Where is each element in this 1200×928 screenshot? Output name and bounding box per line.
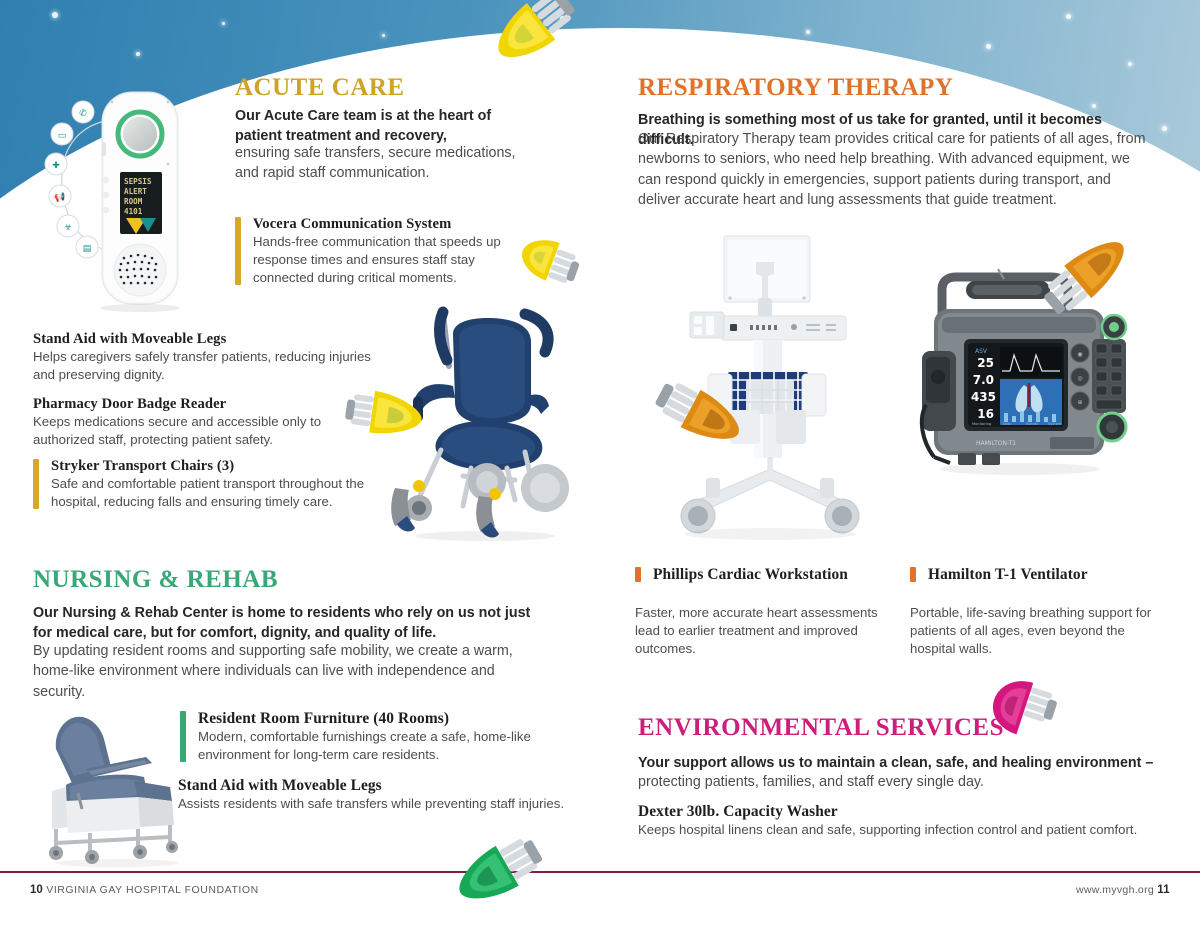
svg-text:ASV: ASV xyxy=(975,348,988,355)
item-title: Stand Aid with Moveable Legs xyxy=(33,331,388,348)
svg-text:✆: ✆ xyxy=(79,109,87,119)
svg-text:ROOM: ROOM xyxy=(124,197,143,206)
svg-text:✚: ✚ xyxy=(52,161,60,171)
svg-text:ALERT: ALERT xyxy=(124,187,147,196)
svg-text:HAMILTON-T1: HAMILTON-T1 xyxy=(976,440,1016,447)
item-description: Assists residents with safe transfers wh… xyxy=(178,795,598,813)
svg-text:◉: ◉ xyxy=(1077,351,1082,358)
footer-page-number-right: 11 xyxy=(1157,884,1170,896)
bulb-pink-right xyxy=(985,680,1075,765)
svg-text:☣: ☣ xyxy=(64,223,72,233)
svg-text:⊕: ⊕ xyxy=(1077,399,1082,406)
section-heading-respiratory-therapy: RESPIRATORY THERAPY xyxy=(638,74,953,102)
bulb-yellow-mid xyxy=(345,385,431,457)
svg-text:SEPSIS: SEPSIS xyxy=(124,177,152,186)
svg-text:📢: 📢 xyxy=(54,191,65,203)
acute-care-lead-text: Our Acute Care team is at the heart of p… xyxy=(235,106,535,147)
item-title: Vocera Communication System xyxy=(253,216,520,233)
footer-page-number-left: 10 xyxy=(30,884,43,896)
item-description: Keeps medications secure and accessible … xyxy=(33,413,338,449)
item-title: Dexter 30lb. Capacity Washer xyxy=(638,803,1163,821)
environmental-lead-text: Your support allows us to maintain a cle… xyxy=(638,753,1163,773)
svg-text:▭: ▭ xyxy=(58,131,67,141)
acute-care-body-text: ensuring safe transfers, secure medicati… xyxy=(235,143,540,184)
footer-website-url[interactable]: www.myvgh.org xyxy=(1076,884,1154,896)
item-vocera-communication-system: Vocera Communication System Hands-free c… xyxy=(235,216,520,287)
svg-text:Monitoring: Monitoring xyxy=(972,422,991,426)
section-heading-nursing-rehab: NURSING & REHAB xyxy=(33,566,278,594)
item-stand-aid-moveable-legs-acute: Stand Aid with Moveable Legs Helps careg… xyxy=(33,331,388,384)
item-dexter-capacity-washer: Dexter 30lb. Capacity Washer Keeps hospi… xyxy=(638,803,1163,839)
item-title: Resident Room Furniture (40 Rooms) xyxy=(198,710,555,728)
svg-text:435: 435 xyxy=(971,390,996,404)
hamilton-t1-ventilator-description: Portable, life-saving breathing support … xyxy=(910,604,1160,658)
footer-divider-rule xyxy=(0,871,1200,873)
item-title: Pharmacy Door Badge Reader xyxy=(33,396,338,413)
section-heading-environmental-services: ENVIRONMENTAL SERVICES xyxy=(638,714,1004,742)
svg-text:Tools: Tools xyxy=(1001,422,1011,426)
section-heading-acute-care: ACUTE CARE xyxy=(235,74,405,102)
environmental-body-text: protecting patients, families, and staff… xyxy=(638,772,1158,792)
item-hamilton-t1-ventilator: Hamilton T-1 Ventilator xyxy=(910,566,1160,584)
phillips-cardiac-workstation-description: Faster, more accurate heart assessments … xyxy=(635,604,885,658)
item-phillips-cardiac-workstation: Phillips Cardiac Workstation xyxy=(635,566,885,584)
svg-text:4101: 4101 xyxy=(124,207,143,216)
nursing-rehab-body-text: By updating resident rooms and supportin… xyxy=(33,641,548,702)
bulb-yellow-top xyxy=(488,0,598,80)
item-description: Hands-free communication that speeds up … xyxy=(253,233,520,287)
resident-room-recliner-image xyxy=(42,705,202,865)
item-description: Modern, comfortable furnishings create a… xyxy=(198,728,555,764)
svg-text:Events: Events xyxy=(1026,422,1038,426)
item-stand-aid-moveable-legs-nursing: Stand Aid with Moveable Legs Assists res… xyxy=(178,777,598,813)
svg-text:25: 25 xyxy=(977,356,994,370)
item-description: Helps caregivers safely transfer patient… xyxy=(33,348,388,384)
footer-right: www.myvgh.org 11 xyxy=(1076,884,1170,896)
nursing-rehab-lead-text: Our Nursing & Rehab Center is home to re… xyxy=(33,603,553,644)
footer-organization-name: VIRGINIA GAY HOSPITAL FOUNDATION xyxy=(46,884,258,896)
item-description: Keeps hospital linens clean and safe, su… xyxy=(638,821,1163,839)
svg-text:16: 16 xyxy=(977,407,994,421)
item-title: Hamilton T-1 Ventilator xyxy=(928,566,1160,584)
item-resident-room-furniture: Resident Room Furniture (40 Rooms) Moder… xyxy=(180,710,555,764)
bulb-orange-right xyxy=(1045,232,1155,327)
svg-text:System: System xyxy=(1048,422,1062,426)
vocera-communication-badge-image: ✆▭ ✚📢 ☣▤ xyxy=(40,72,210,307)
item-description: Safe and comfortable patient transport t… xyxy=(51,475,393,511)
item-title: Stand Aid with Moveable Legs xyxy=(178,777,598,795)
item-title: Stryker Transport Chairs (3) xyxy=(51,458,393,475)
svg-text:7.0: 7.0 xyxy=(973,373,994,387)
item-pharmacy-door-badge-reader: Pharmacy Door Badge Reader Keeps medicat… xyxy=(33,396,338,449)
item-stryker-transport-chairs: Stryker Transport Chairs (3) Safe and co… xyxy=(33,458,393,511)
svg-text:▤: ▤ xyxy=(83,244,92,254)
bulb-green-bottom xyxy=(452,828,572,928)
svg-text:◎: ◎ xyxy=(1077,375,1082,382)
footer-left: 10 VIRGINIA GAY HOSPITAL FOUNDATION xyxy=(30,884,259,896)
bulb-yellow-upper xyxy=(508,235,588,315)
respiratory-body-text: Our Respiratory Therapy team provides cr… xyxy=(638,129,1153,210)
item-title: Phillips Cardiac Workstation xyxy=(653,566,885,584)
bulb-orange-left xyxy=(645,382,755,472)
